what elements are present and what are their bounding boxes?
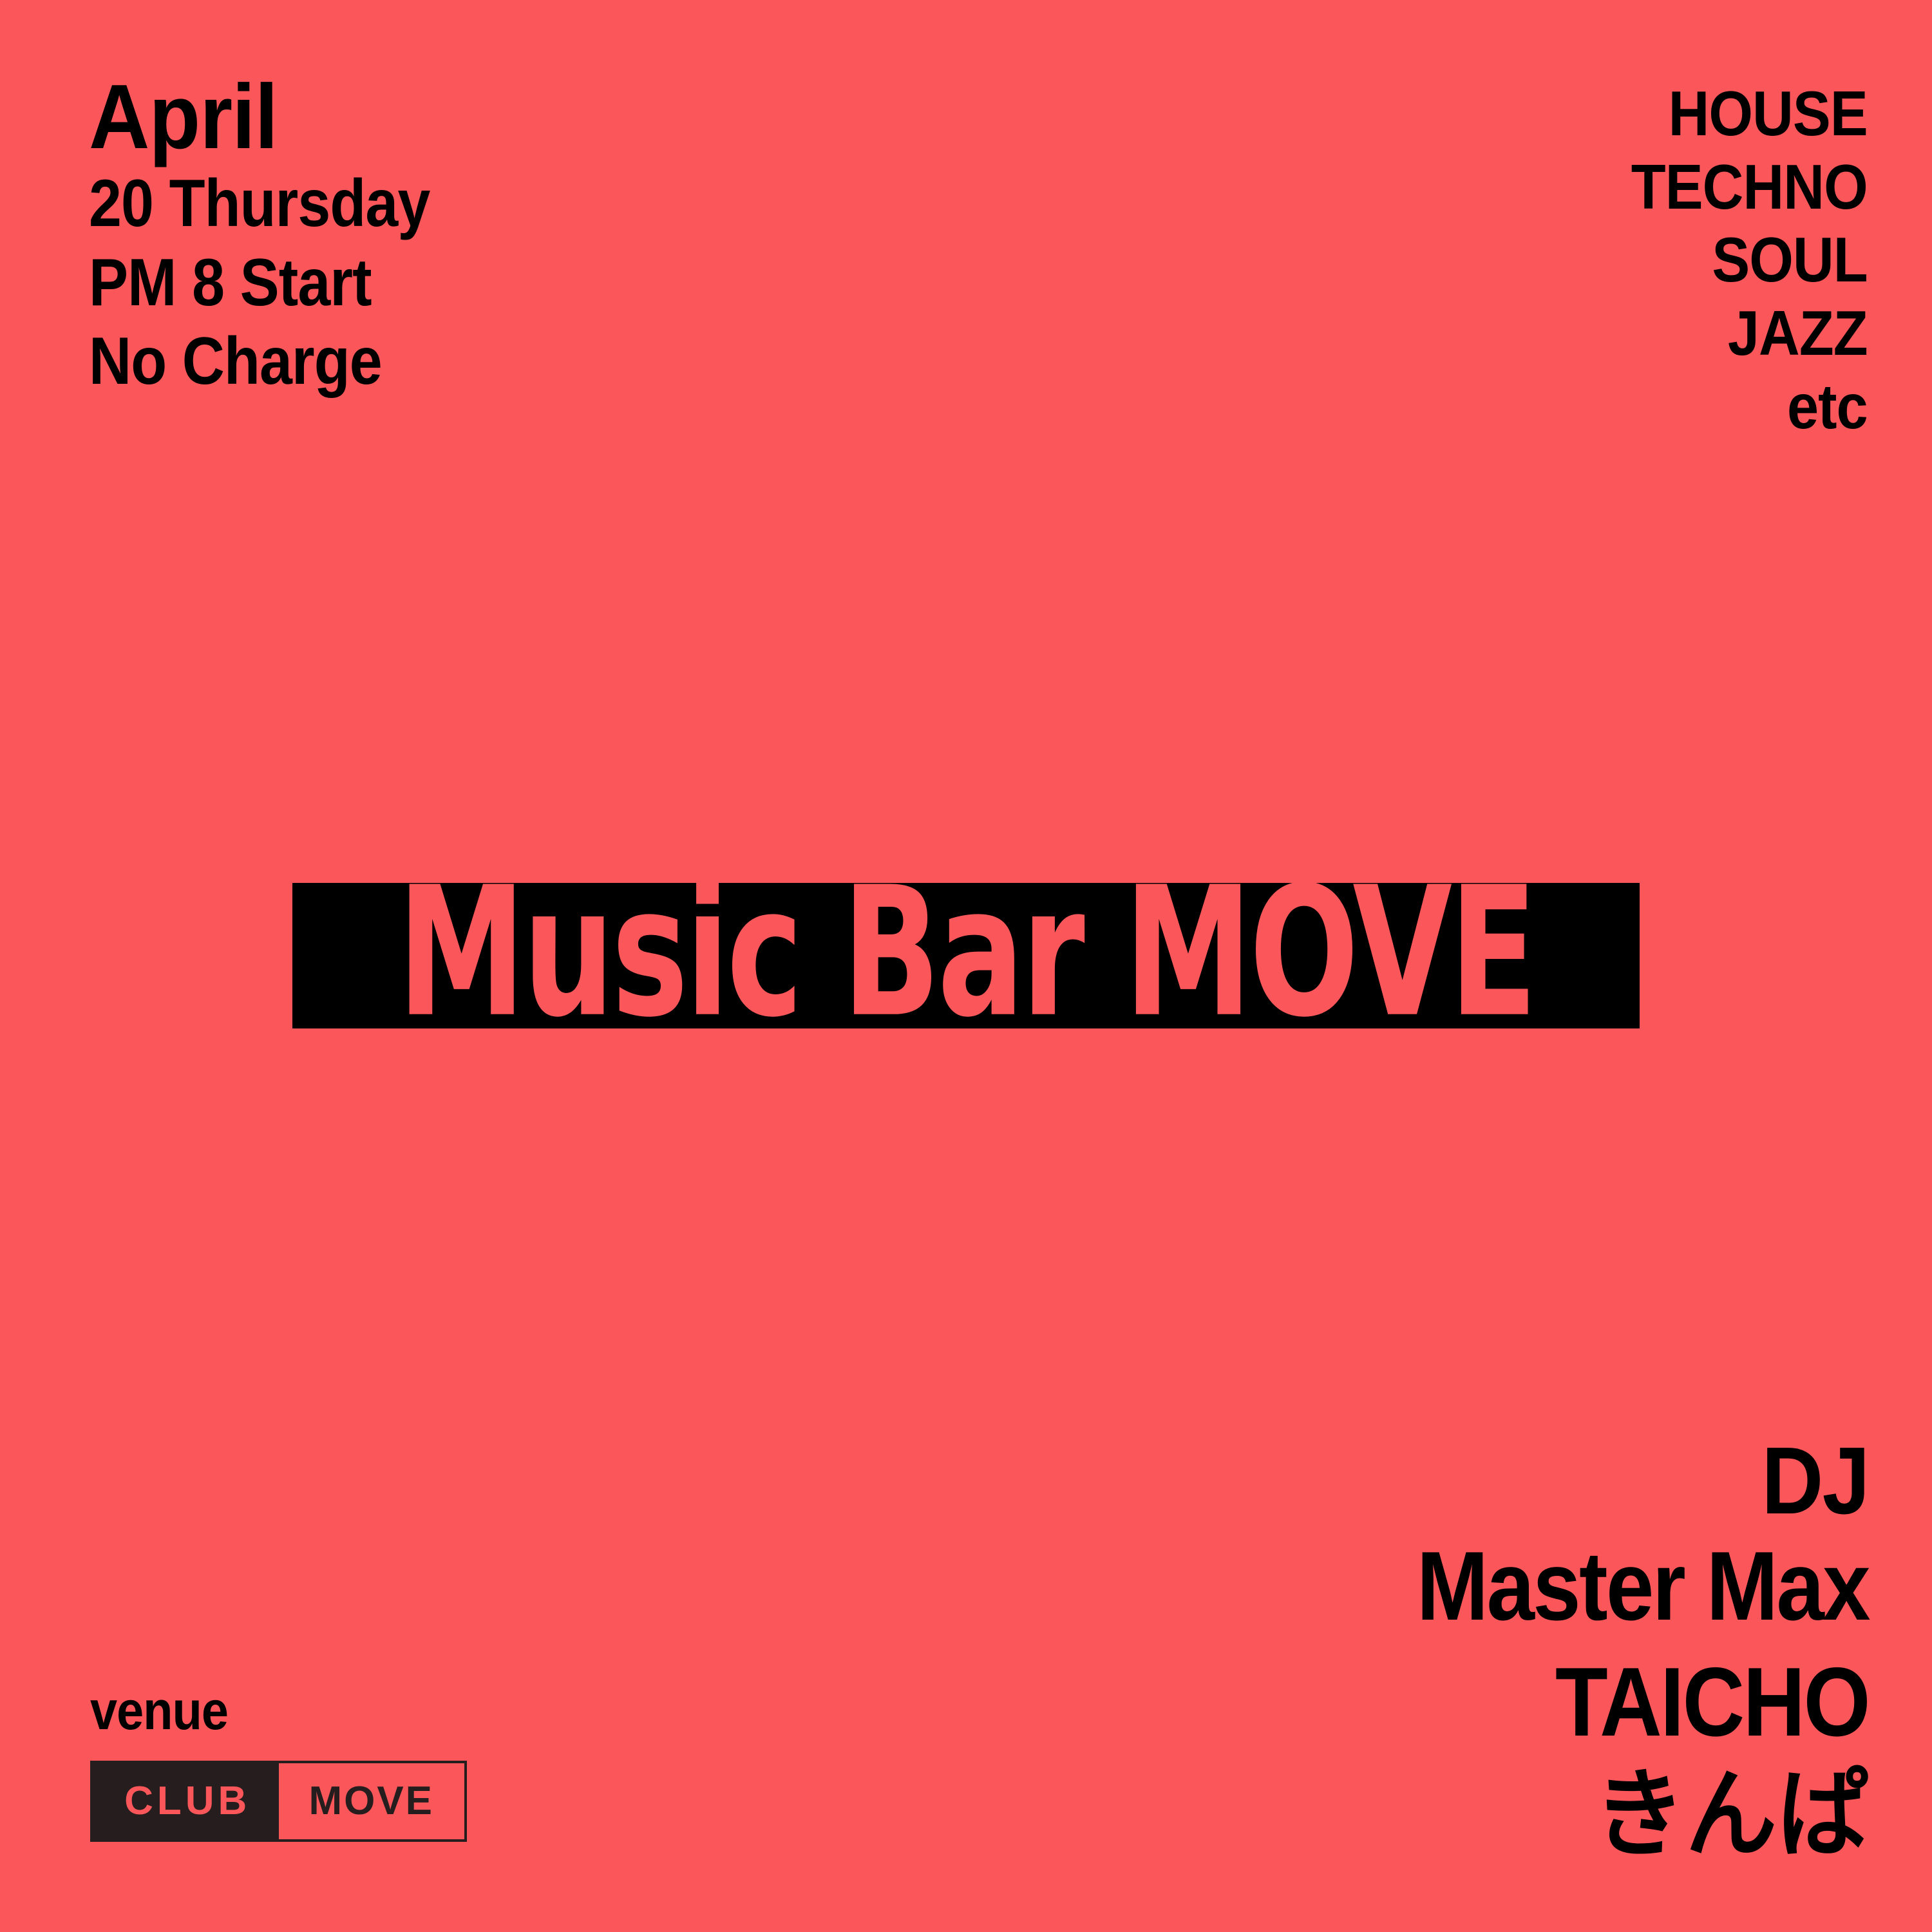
dj-name-master-max: Master Max [1417, 1529, 1869, 1644]
price-line: No Charge [89, 322, 430, 401]
dj-name-kinpa: きんぱ [1381, 1760, 1869, 1870]
genre-item-etc: etc [1631, 370, 1868, 444]
venue-block: venue CLUB MOVE [90, 1683, 467, 1842]
start-time-line: PM 8 Start [89, 243, 430, 323]
logo-move-word: MOVE [308, 1781, 434, 1821]
day-weekday-line: 20 Thursday [89, 164, 430, 243]
genre-list: HOUSE TECHNO SOUL JAZZ etc [1605, 77, 1868, 443]
genre-item-jazz: JAZZ [1631, 297, 1868, 370]
dj-heading: DJ [1406, 1434, 1869, 1529]
club-move-logo: CLUB MOVE [90, 1761, 467, 1842]
genre-item-techno: TECHNO [1631, 151, 1868, 224]
logo-club-word: CLUB [124, 1781, 251, 1821]
logo-left-panel: CLUB [93, 1763, 279, 1839]
month-heading: April [89, 71, 446, 164]
date-block: April 20 Thursday PM 8 Start No Charge [89, 71, 477, 401]
dj-lineup-block: DJ Master Max TAICHO きんぱ [1355, 1434, 1869, 1870]
genre-item-house: HOUSE [1631, 77, 1868, 151]
event-flyer: April 20 Thursday PM 8 Start No Charge H… [0, 0, 1932, 1932]
title-banner: Music Bar MOVE [292, 883, 1640, 1028]
dj-name-taicho: TAICHO [1417, 1645, 1869, 1760]
genre-item-soul: SOUL [1631, 223, 1868, 297]
logo-right-panel: MOVE [279, 1763, 465, 1839]
venue-label: venue [90, 1683, 430, 1738]
event-title: Music Bar MOVE [397, 887, 1534, 1023]
